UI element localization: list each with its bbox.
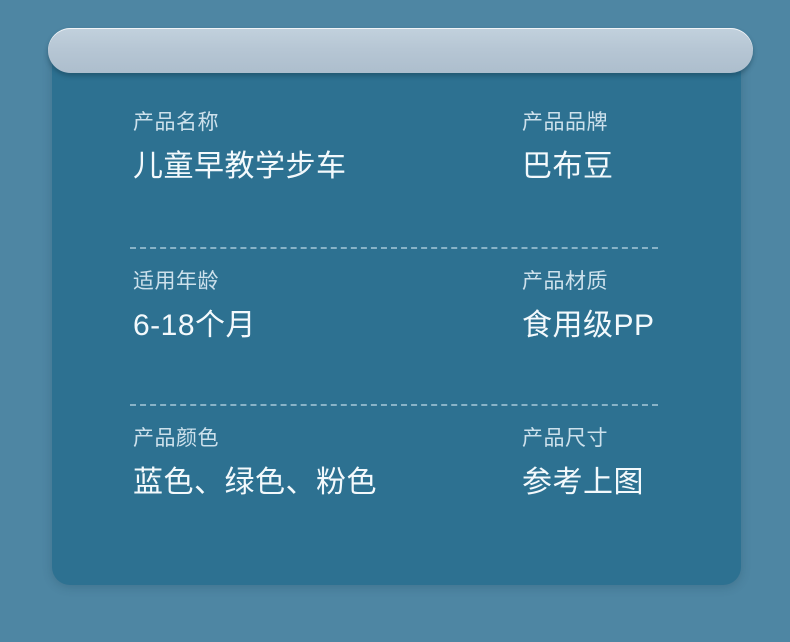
spec-label: 产品颜色: [133, 428, 441, 449]
spec-value: 食用级PP: [522, 311, 741, 341]
spec-label: 产品名称: [133, 112, 441, 133]
spec-cell-color: 产品颜色 蓝色、绿色、粉色: [52, 428, 441, 586]
spec-value: 儿童早教学步车: [133, 152, 441, 182]
spec-value: 6-18个月: [133, 311, 441, 341]
spec-value: 参考上图: [522, 468, 741, 498]
row-divider: [130, 247, 658, 249]
spec-label: 产品材质: [522, 271, 741, 292]
spec-value: 巴布豆: [522, 152, 741, 182]
spec-value: 蓝色、绿色、粉色: [133, 468, 441, 498]
spec-label: 产品尺寸: [522, 428, 741, 449]
table-row: 产品颜色 蓝色、绿色、粉色 产品尺寸 参考上图: [52, 428, 741, 586]
spec-table: 产品名称 儿童早教学步车 产品品牌 巴布豆 适用年龄 6-18个月 产品材质 食…: [52, 40, 741, 585]
product-spec-panel: 产品名称 儿童早教学步车 产品品牌 巴布豆 适用年龄 6-18个月 产品材质 食…: [0, 0, 790, 642]
spec-label: 适用年龄: [133, 271, 441, 292]
row-divider: [130, 404, 658, 406]
decorative-top-bar: [48, 28, 753, 73]
spec-cell-dimensions: 产品尺寸 参考上图: [441, 428, 741, 586]
spec-label: 产品品牌: [522, 112, 741, 133]
spec-card: 产品名称 儿童早教学步车 产品品牌 巴布豆 适用年龄 6-18个月 产品材质 食…: [52, 40, 741, 585]
